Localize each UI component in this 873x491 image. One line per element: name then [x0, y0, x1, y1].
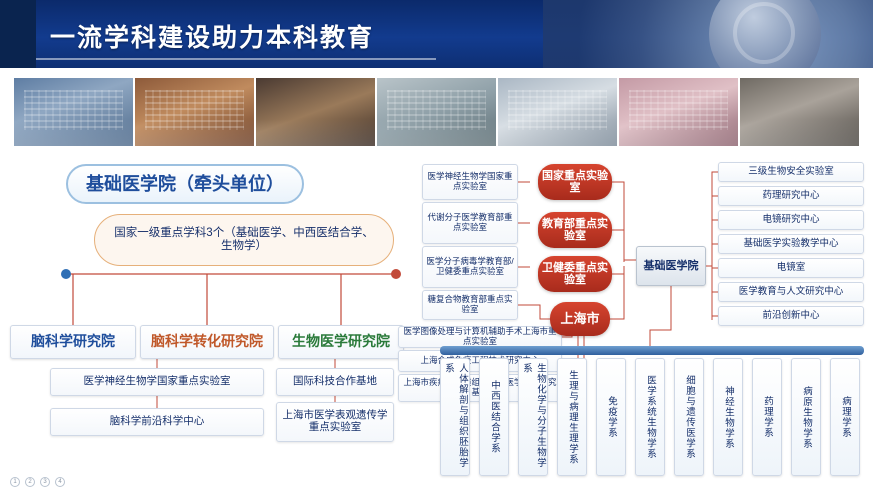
- dept-anatomy-histology-embryology[interactable]: 人体解剖与组织胚胎学系: [440, 358, 470, 476]
- dept-cell-genetic-medicine[interactable]: 细胞与遗传医学系: [674, 358, 704, 476]
- departments-group: 人体解剖与组织胚胎学系 中西医结合学系 生物化学与分子生物学系 生理与病理生理学…: [438, 346, 868, 486]
- dept-neurobiology[interactable]: 神经生物学系: [713, 358, 743, 476]
- footer-dot-4: 4: [55, 477, 65, 487]
- pill-nhc-key-lab[interactable]: 卫健委重点实验室: [538, 256, 612, 292]
- photo-campus-building-1: [14, 78, 133, 146]
- decorative-coin-backdrop: [543, 0, 873, 68]
- center-brain-science-frontier[interactable]: 脑科学前沿科学中心: [50, 408, 264, 436]
- key-disciplines-callout: 国家一级重点学科3个（基础医学、中西医结合学、生物学）: [94, 214, 394, 266]
- institute-brain-science[interactable]: 脑科学研究院: [10, 325, 136, 359]
- lab-medical-molecular-virology[interactable]: 医学分子病毒学教育部/卫健委重点实验室: [422, 246, 518, 288]
- building-windows: [508, 90, 608, 129]
- base-medical-college-title[interactable]: 基础医学院（牵头单位）: [66, 164, 304, 204]
- lab-medical-image-processing-cas[interactable]: 医学图像处理与计算机辅助手术上海市重点实验室: [398, 326, 562, 348]
- dept-pathogen-biology[interactable]: 病原生物学系: [791, 358, 821, 476]
- lab-glycoconjugates-moe[interactable]: 糖复合物教育部重点实验室: [422, 290, 518, 320]
- photo-modern-tower: [498, 78, 617, 146]
- lab-shanghai-medical-epigenetics[interactable]: 上海市医学表观遗传学重点实验室: [276, 402, 394, 442]
- page-title: 一流学科建设助力本科教育: [50, 18, 374, 54]
- building-windows: [387, 90, 487, 129]
- institute-biomedical[interactable]: 生物医学研究院: [278, 325, 404, 359]
- lab-metabolic-molecular-medicine-moe[interactable]: 代谢分子医学教育部重点实验室: [422, 202, 518, 244]
- dept-physiology-pathophysiology[interactable]: 生理与病理生理学系: [557, 358, 587, 476]
- slide-title-bar: 一流学科建设助力本科教育: [0, 0, 873, 68]
- photo-pink-building: [619, 78, 738, 146]
- institute-brain-science-translational[interactable]: 脑科学转化研究院: [140, 325, 274, 359]
- right-item-bsl3-lab[interactable]: 三级生物安全实验室: [718, 162, 864, 182]
- base-international-scitech-cooperation[interactable]: 国际科技合作基地: [276, 368, 394, 396]
- photo-campus-building-2: [135, 78, 254, 146]
- pill-state-key-lab[interactable]: 国家重点实验室: [538, 164, 612, 200]
- dept-integrative-medicine[interactable]: 中西医结合学系: [479, 358, 509, 476]
- building-windows: [629, 90, 729, 129]
- footer-dot-1: 1: [10, 477, 20, 487]
- right-item-em-research-center[interactable]: 电镜研究中心: [718, 210, 864, 230]
- departments-rail: [440, 346, 864, 355]
- dept-immunology[interactable]: 免疫学系: [596, 358, 626, 476]
- right-item-basic-med-teaching-center[interactable]: 基础医学实验教学中心: [718, 234, 864, 254]
- hub-base-medical-college[interactable]: 基础医学院: [636, 246, 706, 286]
- dept-medical-systems-biology[interactable]: 医学系统生物学系: [635, 358, 665, 476]
- dept-pathology[interactable]: 病理学系: [830, 358, 860, 476]
- photo-traditional-hall: [256, 78, 375, 146]
- photo-hospital-building: [377, 78, 496, 146]
- lab-medical-neurobiology-state-key-center[interactable]: 医学神经生物学国家重点实验室: [422, 164, 518, 200]
- footer-dots: 1 2 3 4: [10, 477, 65, 487]
- org-structure-diagram: 基础医学院（牵头单位） 国家一级重点学科3个（基础医学、中西医结合学、生物学） …: [0, 150, 873, 491]
- photo-stone-gate: [740, 78, 859, 146]
- right-item-pharmacology-center[interactable]: 药理研究中心: [718, 186, 864, 206]
- dept-biochemistry-molecular-biology[interactable]: 生物化学与分子生物学系: [518, 358, 548, 476]
- building-windows: [24, 90, 124, 129]
- title-left-accent: [0, 0, 36, 68]
- decorative-coin-inner-ring: [733, 2, 795, 64]
- lab-medical-neurobiology-state-key[interactable]: 医学神经生物学国家重点实验室: [50, 368, 264, 396]
- footer-dot-2: 2: [25, 477, 35, 487]
- right-item-medical-education-humanities[interactable]: 医学教育与人文研究中心: [718, 282, 864, 302]
- right-item-frontier-innovation-center[interactable]: 前沿创新中心: [718, 306, 864, 326]
- right-item-em-room[interactable]: 电镜室: [718, 258, 864, 278]
- campus-photo-strip: [14, 78, 859, 146]
- dept-pharmacology[interactable]: 药理学系: [752, 358, 782, 476]
- pill-moe-key-lab[interactable]: 教育部重点实验室: [538, 212, 612, 248]
- title-underline: [36, 58, 436, 60]
- footer-dot-3: 3: [40, 477, 50, 487]
- pill-shanghai[interactable]: 上海市: [550, 302, 610, 336]
- building-windows: [145, 90, 245, 129]
